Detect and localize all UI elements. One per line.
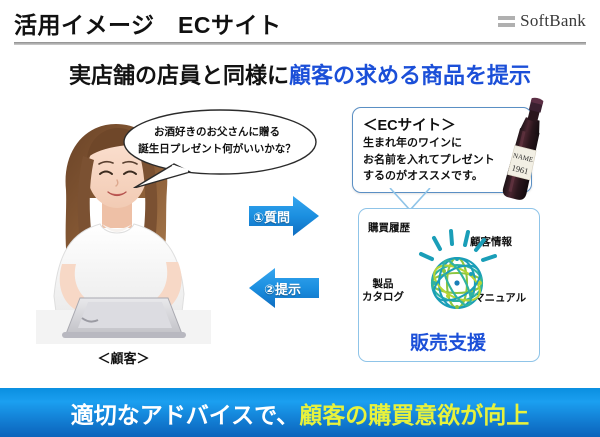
page-title: 活用イメージ ECサイト: [14, 6, 282, 40]
arrow-question-label: ①質問: [247, 194, 327, 238]
label-purchase-history: 購買履歴: [368, 222, 410, 235]
softbank-bars-icon: [498, 16, 515, 27]
headline-blue-part: 顧客の求める商品を提示: [289, 63, 531, 88]
ec-body-line-3: するのがオススメです。: [363, 168, 495, 185]
headline-black-part: 実店舗の店員と同様に: [69, 63, 289, 88]
header-divider: [14, 42, 586, 45]
speech-line-1: お酒好きのお父さんに贈る: [130, 124, 304, 141]
ec-body-line-1: 生まれ年のワインに: [363, 135, 495, 152]
speech-bubble-text: お酒好きのお父さんに贈る 誕生日プレゼント何がいいかな？: [130, 124, 304, 158]
label-product-catalog-line-1: 製品: [362, 278, 404, 291]
softbank-logo: SoftBank: [498, 11, 586, 31]
wine-bottle-image: NAME 1961: [496, 96, 554, 204]
arrow-present-label: ②提示: [247, 266, 338, 310]
speech-line-2: 誕生日プレゼント何がいいかな？: [130, 141, 304, 158]
customer-label: ＜顧客＞: [36, 348, 211, 367]
ec-site-title: ＜ECサイト＞: [363, 114, 456, 135]
headline: 実店舗の店員と同様に顧客の求める商品を提示: [0, 58, 600, 90]
softbank-wordmark: SoftBank: [520, 11, 586, 31]
network-sphere-icon: [415, 228, 499, 318]
sales-support-title: 販売支援: [358, 328, 538, 355]
label-product-catalog: 製品 カタログ: [362, 278, 404, 304]
ec-site-body: 生まれ年のワインに お名前を入れてプレゼント するのがオススメです。: [363, 135, 495, 185]
banner-yellow-part: 顧客の購買意欲が向上: [299, 402, 529, 428]
arrow-question[interactable]: ①質問: [247, 194, 321, 238]
bottom-banner: 適切なアドバイスで、顧客の購買意欲が向上: [0, 388, 600, 437]
banner-white-part: 適切なアドバイスで、: [71, 402, 299, 428]
ec-body-line-2: お名前を入れてプレゼント: [363, 152, 495, 169]
speech-bubble: お酒好きのお父さんに贈る 誕生日プレゼント何がいいかな？: [112, 106, 320, 188]
arrow-present[interactable]: ②提示: [247, 266, 321, 310]
label-product-catalog-line-2: カタログ: [362, 291, 404, 304]
slide-canvas: 活用イメージ ECサイト SoftBank 実店舗の店員と同様に顧客の求める商品…: [0, 0, 600, 437]
banner-text: 適切なアドバイスで、顧客の購買意欲が向上: [71, 396, 529, 430]
